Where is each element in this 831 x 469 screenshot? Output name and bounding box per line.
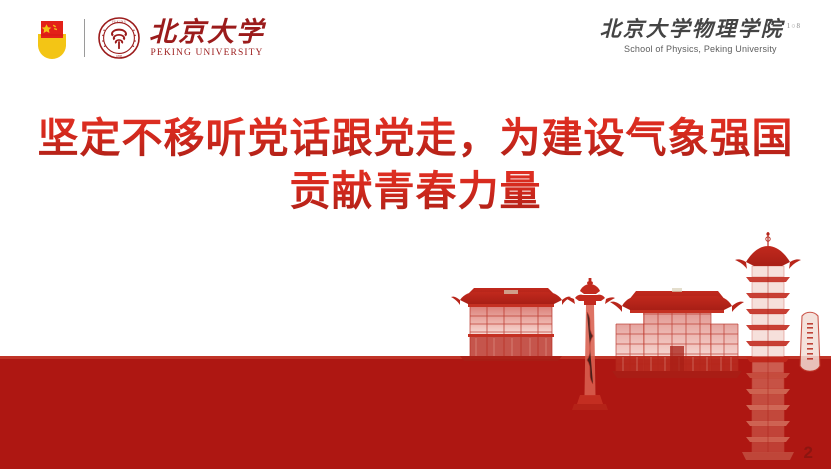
pku-name-cn: 北京大学 [149, 18, 265, 47]
bottom-red-band [0, 356, 831, 469]
peking-university-wordmark: 北京大学 PEKING UNIVERSITY [149, 18, 265, 59]
cpc-flag-shield-emblem-icon [34, 16, 70, 60]
red-band-top-edge [0, 356, 831, 359]
traditional-hall-figure [451, 288, 571, 361]
header-logo-divider [84, 19, 85, 57]
slide-canvas: P E K I N G 1898 北京大学 PEKING UNIVERSITY … [0, 0, 831, 469]
header-left-logo-lockup: P E K I N G 1898 北京大学 PEKING UNIVERSITY [34, 12, 265, 64]
school-of-physics-name-cn: 北京大学物理学院1○8 [600, 14, 801, 42]
school-of-physics-name-cn-text: 北京大学物理学院 [600, 17, 784, 41]
page-title: 坚定不移听党话跟党走，为建设气象强国 贡献青春力量 [0, 112, 831, 218]
title-line-1: 坚定不移听党话跟党走，为建设气象强国 [0, 112, 831, 165]
school-of-physics-name-en: School of Physics, Peking University [600, 43, 801, 55]
header-right-logo-lockup: 北京大学物理学院1○8 School of Physics, Peking Un… [600, 14, 801, 55]
title-line-2: 贡献青春力量 [0, 165, 831, 218]
svg-text:P E K I N G: P E K I N G [112, 19, 126, 23]
school-of-physics-mark: 1○8 [787, 22, 801, 30]
svg-text:1898: 1898 [116, 54, 122, 58]
pku-name-en: PEKING UNIVERSITY [149, 47, 265, 59]
page-number: 2 [804, 443, 813, 463]
peking-university-seal-icon: P E K I N G 1898 [98, 17, 140, 59]
